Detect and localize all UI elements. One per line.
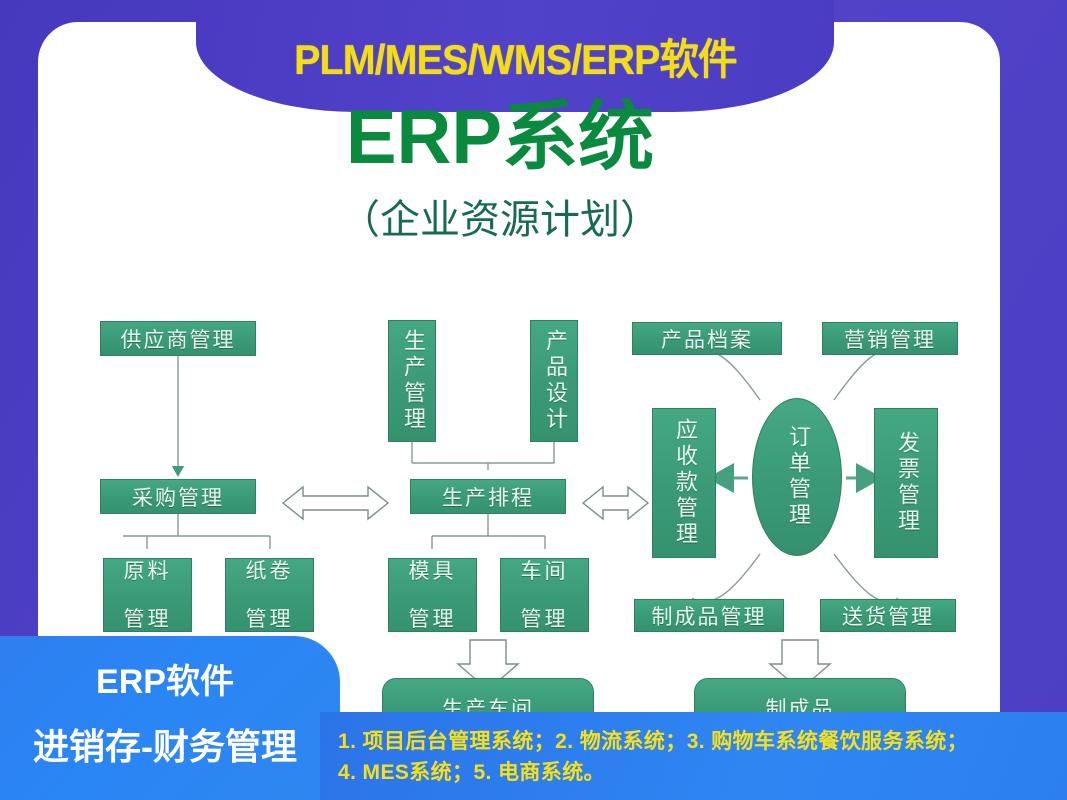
node-prod-schedule[interactable]: 生产排程: [410, 479, 566, 514]
node-product-design[interactable]: 产品设计: [530, 320, 578, 442]
node-finished-mgmt[interactable]: 制成品管理: [634, 599, 784, 632]
bottom-list-line-2: 4. MES系统；5. 电商系统。: [338, 756, 605, 786]
node-supplier[interactable]: 供应商管理: [100, 321, 256, 356]
badge-subtitle: 进销存-财务管理: [0, 718, 330, 770]
node-purchase[interactable]: 采购管理: [100, 479, 256, 514]
node-receivable[interactable]: 应收款管理: [652, 408, 716, 558]
node-paper-roll[interactable]: 纸卷管理: [225, 558, 314, 632]
node-invoice[interactable]: 发票管理: [874, 408, 938, 558]
node-material[interactable]: 原料管理: [103, 558, 192, 632]
node-mould[interactable]: 模具管理: [388, 558, 477, 632]
node-marketing[interactable]: 营销管理: [822, 322, 958, 355]
node-order-mgmt[interactable]: 订单管理: [752, 398, 842, 556]
node-product-archive[interactable]: 产品档案: [632, 322, 782, 355]
slide-canvas: PLM/MES/WMS/ERP软件 ERP系统 （企业资源计划）: [0, 0, 1067, 800]
bottom-list-line-1: 1. 项目后台管理系统；2. 物流系统；3. 购物车系统餐饮服务系统；: [338, 725, 968, 755]
node-workshop-mgmt[interactable]: 车间管理: [500, 558, 589, 632]
bottom-list-strip: 1. 项目后台管理系统；2. 物流系统；3. 购物车系统餐饮服务系统； 4. M…: [320, 712, 1067, 800]
node-delivery[interactable]: 送货管理: [820, 599, 956, 632]
bottom-left-badge: ERP软件 进销存-财务管理: [0, 636, 340, 800]
badge-title: ERP软件: [0, 654, 330, 703]
node-production-mgmt[interactable]: 生产管理: [388, 320, 436, 442]
